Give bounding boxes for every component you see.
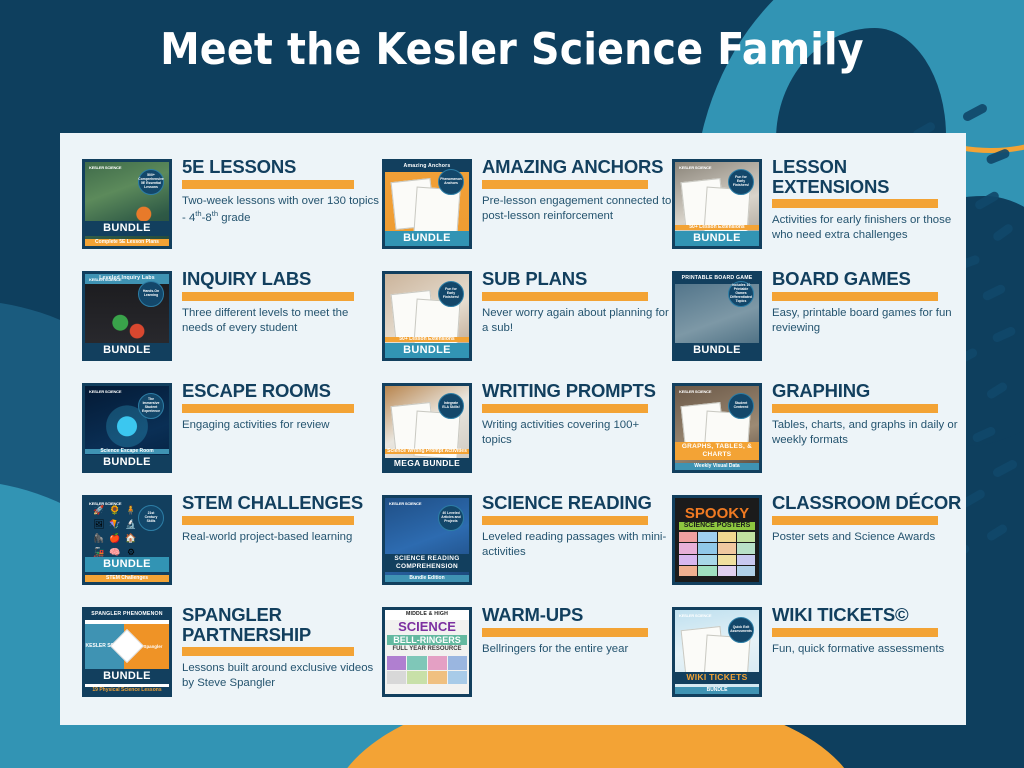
poster-cell — [737, 555, 755, 565]
stem-icon: 🦍 — [93, 534, 104, 544]
orange-underline-rule — [772, 404, 938, 413]
product-card-description: Pre-lesson engagement connected to post-… — [482, 194, 672, 224]
kesler-science-logo: KESLER SCIENCE — [679, 614, 711, 618]
decor-headline: SPOOKY — [679, 506, 755, 521]
product-card-classroom-d-cor[interactable]: SPOOKYSCIENCE POSTERSCLASSROOM DÉCORPost… — [672, 491, 962, 603]
bundle-label: BUNDLE — [85, 557, 169, 572]
product-card-warm-ups[interactable]: SCIENCEBELL-RINGERSFULL YEAR RESOURCEMID… — [382, 603, 672, 715]
thumbnail-badge: Quick Exit Assessments — [728, 617, 754, 643]
stem-icon: 🖼 — [93, 520, 104, 530]
product-card-description: Never worry again about planning for a s… — [482, 306, 672, 336]
product-card-title: 5E LESSONS — [182, 157, 382, 177]
poster-cell — [718, 543, 736, 553]
warmups-subheadline: BELL-RINGERS — [387, 635, 467, 645]
thumbnail-top-label: MIDDLE & HIGH — [385, 610, 469, 620]
thumbnail-artwork: SCIENCEBELL-RINGERSFULL YEAR RESOURCE — [385, 610, 469, 694]
thumbnail-caption: Science Escape Room — [85, 449, 169, 455]
product-thumbnail-writing-prompts[interactable]: Integrate ELA Skills!Science Writing Pro… — [382, 383, 472, 473]
stem-icon: 🏠 — [125, 534, 136, 544]
poster-cell — [737, 566, 755, 576]
kesler-science-logo: KESLER SCIENCE — [89, 390, 121, 394]
product-card-text: WARM-UPSBellringers for the entire year — [482, 603, 672, 657]
product-card-title: SPANGLER PARTNERSHIP — [182, 605, 382, 644]
poster-cell — [698, 555, 716, 565]
product-card-description: Lessons built around exclusive videos by… — [182, 661, 382, 691]
product-card-inquiry-labs[interactable]: KESLER SCIENCELeveled Inquiry LabsHands-… — [82, 267, 382, 379]
product-card-description: Bellringers for the entire year — [482, 642, 672, 657]
product-card-description: Real-world project-based learning — [182, 530, 382, 545]
product-card-title: STEM CHALLENGES — [182, 493, 382, 513]
thumbnail-top-label: SPANGLER PHENOMENON — [85, 610, 169, 620]
dash-mark — [985, 148, 1011, 165]
poster-cell — [698, 532, 716, 542]
bundle-label: BUNDLE — [85, 669, 169, 684]
thumbnail-badge: The Immersive Student Experience — [138, 393, 164, 419]
thumbnail-sub-label: 19 Physical Science Lessons — [85, 687, 169, 695]
product-card-description: Activities for early finishers or those … — [772, 213, 962, 243]
product-card-text: LESSON EXTENSIONSActivities for early fi… — [772, 155, 962, 243]
product-card-text: SPANGLER PARTNERSHIPLessons built around… — [182, 603, 382, 691]
product-card-description: Poster sets and Science Awards — [772, 530, 962, 545]
bundle-label: BUNDLE — [385, 343, 469, 358]
orange-underline-rule — [482, 292, 648, 301]
bundle-label: BUNDLE — [675, 343, 759, 358]
product-card-title: LESSON EXTENSIONS — [772, 157, 962, 196]
thumbnail-badge: Fun for Early Finishers! — [728, 169, 754, 195]
product-card-title: GRAPHING — [772, 381, 962, 401]
orange-underline-rule — [482, 516, 648, 525]
decor-subheadline: SCIENCE POSTERS — [679, 522, 755, 530]
bundle-label: BUNDLE — [85, 221, 169, 236]
product-thumbnail-warm-ups[interactable]: SCIENCEBELL-RINGERSFULL YEAR RESOURCEMID… — [382, 607, 472, 697]
thumbnail-badge: 500+ Comprehensive 5E Essential Lessons — [138, 169, 164, 195]
dash-mark — [991, 222, 1014, 242]
product-card-title: AMAZING ANCHORS — [482, 157, 672, 177]
kesler-science-logo: KESLER SCIENCE — [389, 502, 421, 506]
product-thumbnail-science-reading[interactable]: KESLER SCIENCE40 Leveled Articles and Pr… — [382, 495, 472, 585]
product-card-description: Fun, quick formative assessments — [772, 642, 962, 657]
kesler-science-logo: KESLER SCIENCE — [89, 166, 121, 170]
stem-icon: 🍎 — [109, 534, 120, 544]
poster-cell — [718, 532, 736, 542]
product-card-title: WARM-UPS — [482, 605, 672, 625]
bundle-label: BUNDLE — [85, 455, 169, 470]
poster-cell — [698, 566, 716, 576]
poster-thumb — [387, 671, 406, 685]
product-card-text: ESCAPE ROOMSEngaging activities for revi… — [182, 379, 382, 433]
bundle-label: BUNDLE — [675, 231, 759, 246]
poster-cell — [679, 555, 697, 565]
kesler-science-logo: KESLER SCIENCE — [679, 390, 711, 394]
orange-underline-rule — [772, 199, 938, 208]
orange-underline-rule — [182, 292, 354, 301]
orange-underline-rule — [482, 180, 648, 189]
product-card-lesson-extensions[interactable]: KESLER SCIENCEFun for Early Finishers!50… — [672, 155, 962, 267]
poster-strip — [387, 656, 467, 684]
poster-grid — [679, 532, 755, 576]
product-card-text: STEM CHALLENGESReal-world project-based … — [182, 491, 382, 545]
product-card-description: Three different levels to meet the needs… — [182, 306, 382, 336]
thumbnail-caption: 50+ Lesson Extensions — [675, 225, 759, 231]
product-card-science-reading[interactable]: KESLER SCIENCE40 Leveled Articles and Pr… — [382, 491, 672, 603]
orange-underline-rule — [182, 516, 354, 525]
product-thumbnail-spangler-partnership[interactable]: KESLER SCIENCESteve SpanglerSPANGLER PHE… — [82, 607, 172, 697]
thumbnail-caption: 50+ Lesson Extensions — [385, 337, 469, 343]
thumbnail-badge: Integrate ELA Skills! — [438, 393, 464, 419]
bundle-label: GRAPHS, TABLES, & CHARTS — [675, 442, 759, 460]
poster-thumb — [407, 656, 426, 670]
kesler-science-logo: KESLER SCIENCE — [89, 278, 121, 282]
product-card-title: SUB PLANS — [482, 269, 672, 289]
stem-icon: 🧍 — [125, 506, 136, 516]
poster-cell — [679, 566, 697, 576]
product-card-text: SUB PLANSNever worry again about plannin… — [482, 267, 672, 336]
bundle-label: BUNDLE — [385, 231, 469, 246]
kesler-science-logo: KESLER SCIENCE — [679, 166, 711, 170]
orange-underline-rule — [772, 628, 938, 637]
orange-underline-rule — [182, 647, 354, 656]
product-thumbnail-escape-rooms[interactable]: KESLER SCIENCEThe Immersive Student Expe… — [82, 383, 172, 473]
dash-mark — [991, 326, 1017, 344]
product-thumbnail-classroom-d-cor[interactable]: SPOOKYSCIENCE POSTERS — [672, 495, 762, 585]
thumbnail-artwork: SPOOKYSCIENCE POSTERS — [675, 498, 759, 582]
product-thumbnail-board-games[interactable]: PRINTABLE BOARD GAMEIncludes 10 Printabl… — [672, 271, 762, 361]
product-thumbnail-wiki-tickets[interactable]: KESLER SCIENCEQuick Exit AssessmentsWIKI… — [672, 607, 762, 697]
product-card-escape-rooms[interactable]: KESLER SCIENCEThe Immersive Student Expe… — [82, 379, 382, 491]
product-card-text: INQUIRY LABSThree different levels to me… — [182, 267, 382, 336]
orange-underline-rule — [182, 404, 354, 413]
product-card-description: Writing activities covering 100+ topics — [482, 418, 672, 448]
product-card-text: CLASSROOM DÉCORPoster sets and Science A… — [772, 491, 962, 545]
dash-mark — [991, 458, 1018, 478]
poster-cell — [679, 543, 697, 553]
orange-underline-rule — [482, 628, 648, 637]
product-thumbnail-inquiry-labs[interactable]: KESLER SCIENCELeveled Inquiry LabsHands-… — [82, 271, 172, 361]
dash-mark — [981, 283, 1007, 302]
thumbnail-sub-label: Bundle Edition — [385, 575, 469, 583]
stem-icon: 🪁 — [109, 520, 120, 530]
poster-cell — [718, 555, 736, 565]
product-panel: KESLER SCIENCE500+ Comprehensive 5E Esse… — [60, 133, 966, 725]
orange-underline-rule — [482, 404, 648, 413]
bundle-label: SCIENCE READING COMPREHENSION — [385, 554, 469, 572]
thumbnail-badge: Hands-On Learning — [138, 281, 164, 307]
product-card-wiki-tickets[interactable]: KESLER SCIENCEQuick Exit AssessmentsWIKI… — [672, 603, 962, 715]
product-card-text: GRAPHINGTables, charts, and graphs in da… — [772, 379, 962, 448]
kesler-science-logo: KESLER SCIENCE — [89, 502, 121, 506]
product-card-title: INQUIRY LABS — [182, 269, 382, 289]
product-card-text: 5E LESSONSTwo-week lessons with over 130… — [182, 155, 382, 226]
product-card-title: WIKI TICKETS© — [772, 605, 962, 625]
dash-mark — [985, 381, 1008, 400]
product-card-sub-plans[interactable]: Fun for Early Finishers!50+ Lesson Exten… — [382, 267, 672, 379]
dash-mark — [971, 426, 997, 444]
product-thumbnail-lesson-extensions[interactable]: KESLER SCIENCEFun for Early Finishers!50… — [672, 159, 762, 249]
page-title: Meet the Kesler Science Family — [0, 24, 1024, 75]
poster-thumb — [428, 656, 447, 670]
product-card-text: AMAZING ANCHORSPre-lesson engagement con… — [482, 155, 672, 224]
product-card-description: Easy, printable board games for fun revi… — [772, 306, 962, 336]
dash-mark — [961, 102, 988, 122]
product-card-description: Engaging activities for review — [182, 418, 382, 433]
stem-icon: 🌻 — [109, 506, 120, 516]
poster-thumb — [407, 671, 426, 685]
orange-underline-rule — [772, 292, 938, 301]
product-card-title: BOARD GAMES — [772, 269, 962, 289]
product-card-text: BOARD GAMESEasy, printable board games f… — [772, 267, 962, 336]
poster-thumb — [428, 671, 447, 685]
product-card-description: Leveled reading passages with mini-activ… — [482, 530, 672, 560]
poster-thumb — [387, 656, 406, 670]
product-card-writing-prompts[interactable]: Integrate ELA Skills!Science Writing Pro… — [382, 379, 672, 491]
product-card-graphing[interactable]: KESLER SCIENCEStudent CenteredGRAPHS, TA… — [672, 379, 962, 491]
product-card-title: ESCAPE ROOMS — [182, 381, 382, 401]
product-grid: KESLER SCIENCE500+ Comprehensive 5E Esse… — [82, 155, 952, 715]
thumbnail-badge: Phenomenon Anchors — [438, 169, 464, 195]
bundle-label: BUNDLE — [85, 343, 169, 358]
dash-mark — [973, 190, 1000, 211]
product-thumbnail-amazing-anchors[interactable]: Amazing AnchorsPhenomenon AnchorsBUNDLE — [382, 159, 472, 249]
product-card-spangler-partnership[interactable]: KESLER SCIENCESteve SpanglerSPANGLER PHE… — [82, 603, 382, 715]
slide-canvas: Meet the Kesler Science Family KESLER SC… — [0, 0, 1024, 768]
product-card-description: Two-week lessons with over 130 topics - … — [182, 194, 382, 226]
thumbnail-sub-label: Weekly Visual Data — [675, 463, 759, 471]
stem-icon: 🚀 — [93, 506, 104, 516]
product-thumbnail-sub-plans[interactable]: Fun for Early Finishers!50+ Lesson Exten… — [382, 271, 472, 361]
thumbnail-badge: 21st Century Skills — [138, 505, 164, 531]
orange-underline-rule — [772, 516, 938, 525]
thumbnail-badge: 40 Leveled Articles and Projects — [438, 505, 464, 531]
product-card-title: CLASSROOM DÉCOR — [772, 493, 962, 513]
product-card-text: WRITING PROMPTSWriting activities coveri… — [482, 379, 672, 448]
thumbnail-sub-label: Complete 5E Lesson Plans — [85, 239, 169, 247]
product-thumbnail-graphing[interactable]: KESLER SCIENCEStudent CenteredGRAPHS, TA… — [672, 383, 762, 473]
dash-mark — [985, 523, 1008, 542]
thumbnail-sub-label: STEM Challenges — [85, 575, 169, 583]
poster-cell — [737, 543, 755, 553]
orange-underline-rule — [182, 180, 354, 189]
poster-cell — [698, 543, 716, 553]
product-thumbnail-5e-lessons[interactable]: KESLER SCIENCE500+ Comprehensive 5E Esse… — [82, 159, 172, 249]
poster-cell — [737, 532, 755, 542]
stem-icon: 🔬 — [125, 520, 136, 530]
product-card-stem-challenges[interactable]: 🚀🌻🧍🖼🪁🔬🦍🍎🏠🚂🧠⚙KESLER SCIENCE21st Century S… — [82, 491, 382, 603]
thumbnail-badge: Fun for Early Finishers! — [438, 281, 464, 307]
poster-cell — [679, 532, 697, 542]
product-card-amazing-anchors[interactable]: Amazing AnchorsPhenomenon AnchorsBUNDLEA… — [382, 155, 672, 267]
product-card-title: SCIENCE READING — [482, 493, 672, 513]
product-card-text: SCIENCE READINGLeveled reading passages … — [482, 491, 672, 560]
thumbnail-badge: Student Centered — [728, 393, 754, 419]
bundle-label: MEGA BUNDLE — [385, 458, 469, 470]
product-card-board-games[interactable]: PRINTABLE BOARD GAMEIncludes 10 Printabl… — [672, 267, 962, 379]
product-thumbnail-stem-challenges[interactable]: 🚀🌻🧍🖼🪁🔬🦍🍎🏠🚂🧠⚙KESLER SCIENCE21st Century S… — [82, 495, 172, 585]
warmups-headline: SCIENCE — [387, 620, 467, 633]
thumbnail-sub-label: BUNDLE — [675, 687, 759, 695]
thumbnail-badge: Includes 10 Printable Games Differentiat… — [728, 281, 754, 307]
thumbnail-caption: Science Writing Prompt Activities — [385, 449, 469, 455]
product-card-description: Tables, charts, and graphs in daily or w… — [772, 418, 962, 448]
poster-thumb — [448, 671, 467, 685]
poster-thumb — [448, 656, 467, 670]
product-card-5e-lessons[interactable]: KESLER SCIENCE500+ Comprehensive 5E Esse… — [82, 155, 382, 267]
product-card-text: WIKI TICKETS©Fun, quick formative assess… — [772, 603, 962, 657]
product-card-title: WRITING PROMPTS — [482, 381, 672, 401]
bundle-label: WIKI TICKETS — [675, 672, 759, 684]
poster-cell — [718, 566, 736, 576]
stem-icon-grid: 🚀🌻🧍🖼🪁🔬🦍🍎🏠🚂🧠⚙ — [91, 504, 139, 560]
warmups-tagline: FULL YEAR RESOURCE — [387, 646, 467, 653]
